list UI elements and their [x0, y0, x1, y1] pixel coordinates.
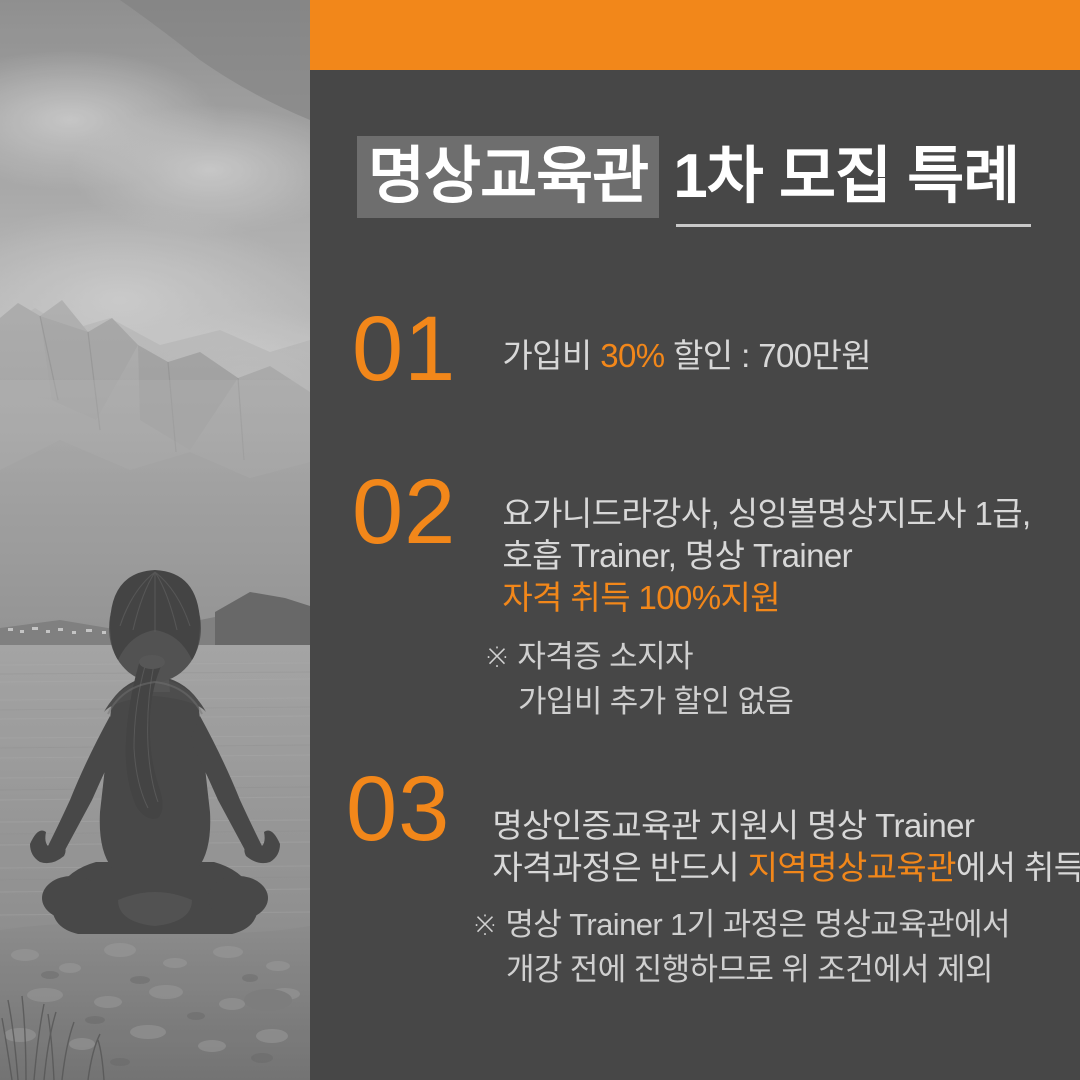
item-line: 호흡 Trainer, 명상 Trainer [502, 535, 1030, 577]
item-line: 요가니드라강사, 싱잉볼명상지도사 1급, [502, 493, 1030, 535]
item-text-accent: 지역명상교육관 [748, 849, 956, 886]
item-line: 자격과정은 반드시 지역명상교육관에서 취득 [492, 847, 1080, 889]
item-text: 요가니드라강사, 싱잉볼명상지도사 1급, 호흡 Trainer, 명상 Tra… [456, 468, 1030, 619]
list-item: 01 가입비 30% 할인 : 700만원 [352, 305, 871, 393]
item-number: 02 [352, 468, 456, 556]
note-marker: ※ [472, 907, 497, 942]
item-text-segment: 가입비 [502, 337, 600, 374]
orange-accent-bar [310, 0, 1080, 70]
promo-poster: 명상교육관 1차 모집 특례 01 가입비 30% 할인 : 700만원 02 … [0, 0, 1080, 1080]
meditation-photo-illustration [0, 0, 310, 1080]
item-number: 01 [352, 305, 456, 393]
page-title: 명상교육관 1차 모집 특례 [357, 136, 1019, 218]
note-text: 자격증 소지자 [517, 639, 693, 674]
item-line-accent: 자격 취득 100%지원 [502, 577, 1030, 619]
note-text: 가입비 추가 할인 없음 [484, 679, 793, 724]
title-underline [676, 224, 1031, 227]
item-text-segment: 할인 : 700만원 [664, 337, 871, 374]
item-text: 가입비 30% 할인 : 700만원 [456, 305, 871, 377]
item-number: 03 [346, 765, 450, 853]
meditation-photo [0, 0, 310, 1080]
item-text-accent: 30% [600, 337, 664, 374]
note-line: ※ 자격증 소지자 [484, 634, 793, 679]
page-title-rest: 1차 모집 특례 [659, 136, 1019, 218]
list-item: 02 요가니드라강사, 싱잉볼명상지도사 1급, 호흡 Trainer, 명상 … [352, 468, 1031, 619]
note-line: 개강 전에 진행하므로 위 조건에서 제외 [472, 947, 1010, 992]
item-line: 가입비 30% 할인 : 700만원 [502, 335, 871, 377]
item-line: 명상인증교육관 지원시 명상 Trainer [492, 805, 1080, 847]
note-line: 가입비 추가 할인 없음 [484, 679, 793, 724]
note-line: ※ 명상 Trainer 1기 과정은 명상교육관에서 [472, 902, 1010, 947]
note: ※ 명상 Trainer 1기 과정은 명상교육관에서 개강 전에 진행하므로 … [472, 902, 1010, 992]
item-text-segment: 자격과정은 반드시 [492, 849, 747, 886]
page-title-highlight: 명상교육관 [357, 136, 659, 218]
item-text: 명상인증교육관 지원시 명상 Trainer 자격과정은 반드시 지역명상교육관… [450, 765, 1080, 889]
note-marker: ※ [484, 639, 509, 674]
note-text: 개강 전에 진행하므로 위 조건에서 제외 [472, 947, 993, 992]
item-text-segment: 에서 취득 [956, 849, 1080, 886]
list-item: 03 명상인증교육관 지원시 명상 Trainer 자격과정은 반드시 지역명상… [346, 765, 1080, 889]
note: ※ 자격증 소지자 가입비 추가 할인 없음 [484, 634, 793, 724]
note-text: 명상 Trainer 1기 과정은 명상교육관에서 [505, 907, 1010, 942]
